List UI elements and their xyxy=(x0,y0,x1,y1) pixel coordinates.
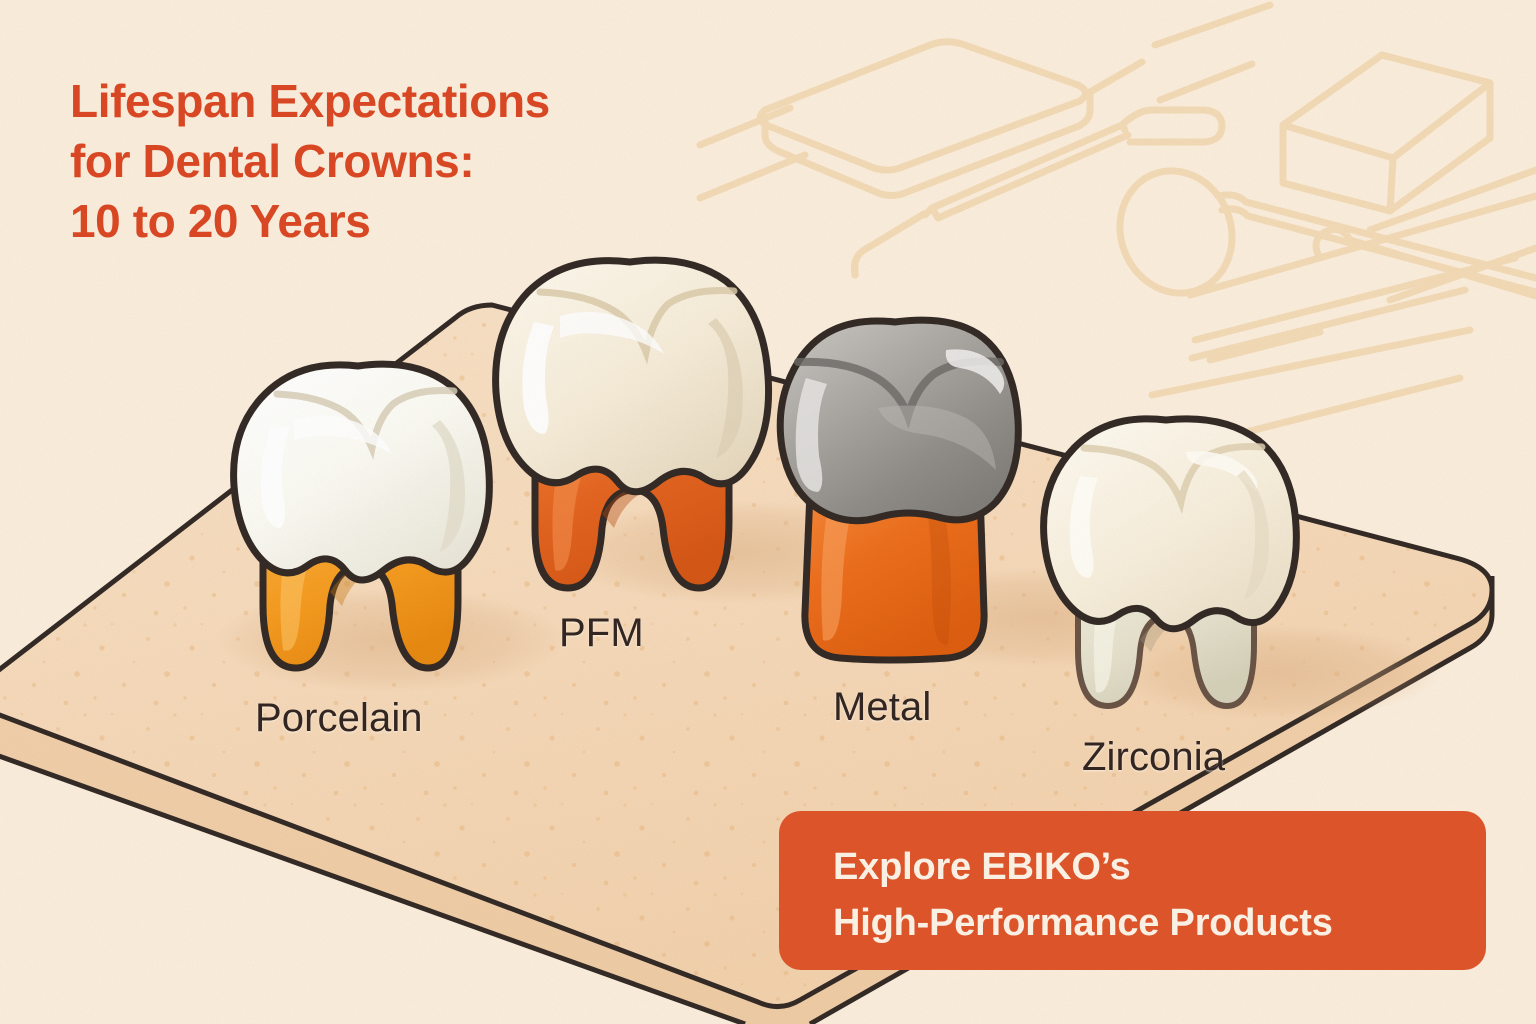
shadow-zirconia xyxy=(1110,624,1440,720)
cta-line-1: Explore EBIKO’s xyxy=(833,839,1486,895)
page-title: Lifespan Expectations for Dental Crowns:… xyxy=(70,72,690,251)
title-line-1: Lifespan Expectations xyxy=(70,72,690,132)
crown-label-zirconia: Zirconia xyxy=(1082,735,1225,780)
title-line-2: for Dental Crowns: xyxy=(70,132,690,192)
title-line-3: 10 to 20 Years xyxy=(70,192,690,252)
crown-label-metal: Metal xyxy=(833,685,931,730)
decor-mouth-mirror-icon xyxy=(1102,154,1536,310)
crown-label-pfm: PFM xyxy=(559,611,644,656)
infographic-canvas: Lifespan Expectations for Dental Crowns:… xyxy=(0,0,1536,1024)
crown-metal[interactable] xyxy=(780,320,1018,660)
cta-button[interactable]: Explore EBIKO’s High-Performance Product… xyxy=(779,811,1486,970)
crown-label-porcelain: Porcelain xyxy=(255,696,423,741)
decor-material-block-icon xyxy=(1283,55,1490,211)
cta-line-2: High-Performance Products xyxy=(833,895,1486,951)
